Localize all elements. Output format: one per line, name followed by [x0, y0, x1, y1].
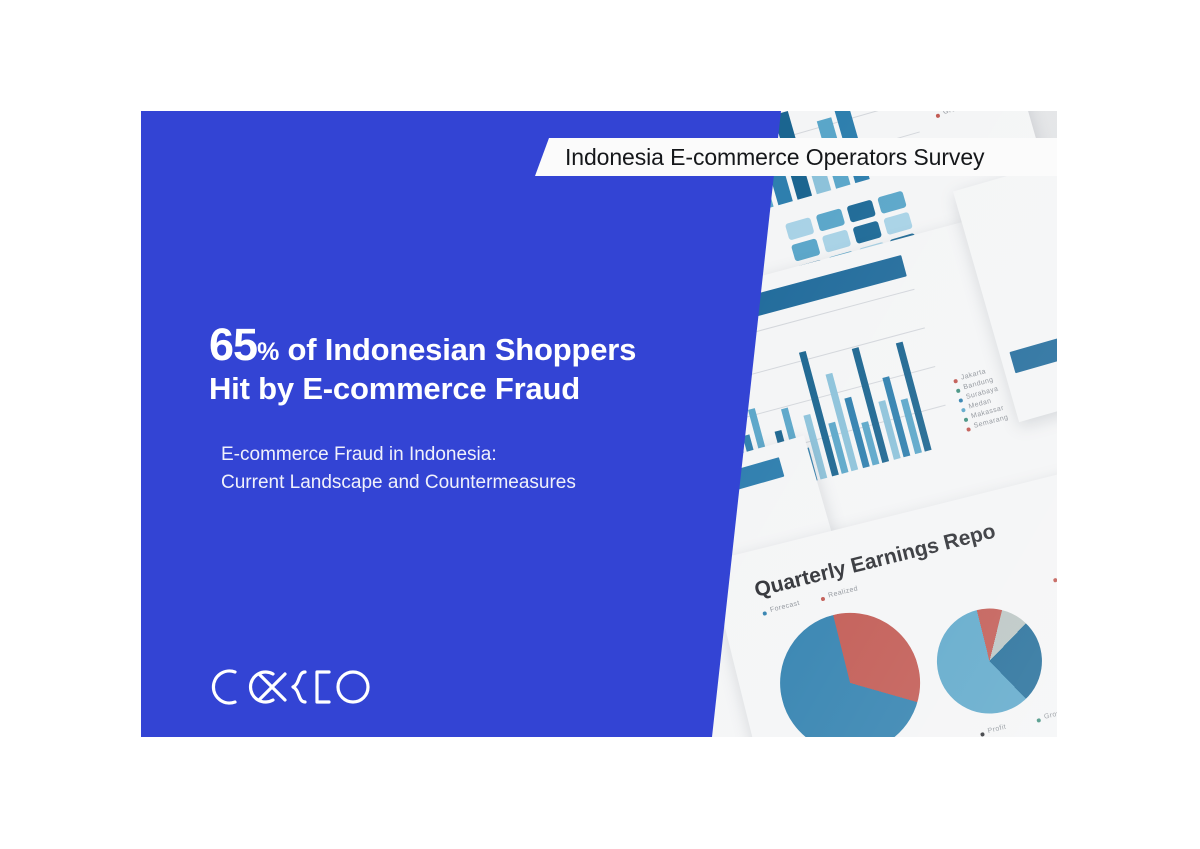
- logo-glyph-c: [213, 671, 235, 703]
- paper-pie-chart-small: [926, 597, 1053, 724]
- banner-title-text: Indonesia E-commerce Operators Survey: [565, 144, 984, 171]
- subtitle-line-2: Current Landscape and Countermeasures: [221, 469, 576, 497]
- screenshot-canvas: Financial Overview: [0, 0, 1200, 849]
- logo-glyph-bracket: [317, 672, 329, 702]
- paper-header-bar: [1009, 303, 1057, 374]
- headline-stat-unit: %: [257, 338, 279, 366]
- logo-glyph-o: [338, 672, 368, 702]
- headline-block: 65% of Indonesian Shoppers Hit by E-comm…: [209, 318, 636, 408]
- subtitle-line-1: E-commerce Fraud in Indonesia:: [221, 441, 576, 469]
- callo-logo: [211, 664, 371, 710]
- logo-glyph-brace: [293, 672, 305, 702]
- callo-logo-mark: [211, 664, 371, 710]
- presentation-slide: Financial Overview: [141, 111, 1057, 737]
- headline-line-2: Hit by E-commerce Fraud: [209, 371, 636, 408]
- headline-line-1-rest: of Indonesian Shoppers: [279, 332, 636, 367]
- title-banner: Indonesia E-commerce Operators Survey: [535, 138, 1057, 176]
- headline-line-1: 65% of Indonesian Shoppers: [209, 318, 636, 371]
- paper-pie-chart-large: [763, 596, 938, 737]
- subtitle-block: E-commerce Fraud in Indonesia: Current L…: [221, 441, 576, 496]
- logo-glyph-alpha: [251, 672, 285, 702]
- headline-stat-number: 65: [209, 319, 257, 370]
- blue-accent-panel: [141, 111, 801, 737]
